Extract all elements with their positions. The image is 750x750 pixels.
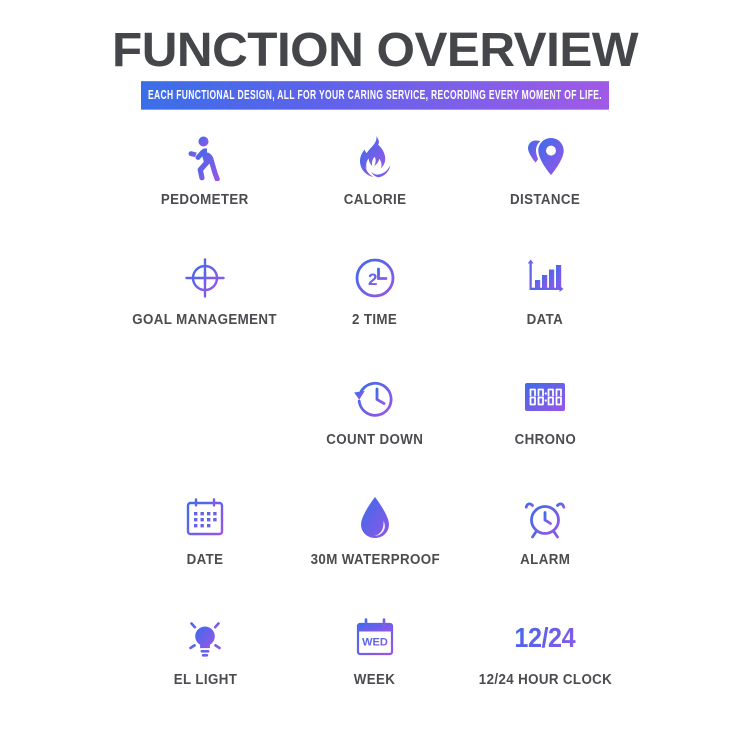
feature-label: GOAL MANAGEMENT (133, 312, 278, 328)
feature-label: 2 TIME (352, 312, 397, 328)
feature-item-goal-management[interactable]: GOAL MANAGEMENT (120, 250, 290, 370)
feature-label: DATE (187, 552, 224, 568)
running-person-icon (183, 130, 227, 186)
dual-time-clock-icon: 2 (352, 250, 398, 306)
feature-item-chrono[interactable]: CHRONO (460, 370, 630, 490)
digital-display-icon (523, 370, 567, 426)
function-overview-page: FUNCTION OVERVIEW EACH FUNCTIONAL DESIGN… (0, 0, 750, 750)
target-crosshair-icon (182, 250, 228, 306)
feature-label: 12/24 HOUR CLOCK (478, 672, 611, 688)
subtitle-wrapper: EACH FUNCTIONAL DESIGN, ALL FOR YOUR CAR… (0, 86, 750, 105)
flame-icon (355, 130, 395, 186)
feature-grid: PEDOMETER CALORIE (120, 130, 630, 730)
countdown-clock-icon (352, 370, 398, 426)
feature-item-hour-clock[interactable]: 12/24 12/24 HOUR CLOCK (460, 610, 630, 730)
week-day-text: WED (362, 637, 388, 649)
feature-item-waterproof[interactable]: 30M WATERPROOF (290, 490, 460, 610)
calendar-icon (184, 490, 226, 546)
feature-label: 30M WATERPROOF (310, 552, 439, 568)
feature-item-week[interactable]: WED WEEK (290, 610, 460, 730)
hour-clock-text: 12/24 (515, 622, 576, 654)
feature-label: DISTANCE (510, 192, 580, 208)
feature-item-calorie[interactable]: CALORIE (290, 130, 460, 250)
feature-label: CALORIE (344, 192, 407, 208)
feature-label: DATA (527, 312, 564, 328)
feature-label: COUNT DOWN (326, 432, 423, 448)
feature-item-count-down[interactable]: COUNT DOWN (290, 370, 460, 490)
water-drop-icon (357, 490, 393, 546)
feature-item-2-time[interactable]: 2 2 TIME (290, 250, 460, 370)
bar-chart-icon (522, 250, 568, 306)
twelve-twentyfour-text-icon: 12/24 (511, 610, 579, 666)
feature-item-pedometer[interactable]: PEDOMETER (120, 130, 290, 250)
feature-label: PEDOMETER (161, 192, 249, 208)
subtitle-banner: EACH FUNCTIONAL DESIGN, ALL FOR YOUR CAR… (141, 82, 609, 111)
feature-label: WEEK (354, 672, 396, 688)
feature-label: CHRONO (514, 432, 575, 448)
feature-label: ALARM (520, 552, 570, 568)
feature-item-date[interactable]: DATE (120, 490, 290, 610)
map-pin-icon (522, 130, 568, 186)
feature-item-alarm[interactable]: ALARM (460, 490, 630, 610)
alarm-clock-icon (522, 490, 568, 546)
calendar-week-icon: WED (353, 610, 397, 666)
feature-item-el-light[interactable]: EL LIGHT (120, 610, 290, 730)
feature-item-distance[interactable]: DISTANCE (460, 130, 630, 250)
page-title: FUNCTION OVERVIEW (0, 26, 750, 76)
feature-label: EL LIGHT (173, 672, 236, 688)
feature-item-data[interactable]: DATA (460, 250, 630, 370)
header: FUNCTION OVERVIEW EACH FUNCTIONAL DESIGN… (0, 0, 750, 106)
dual-time-number: 2 (368, 270, 377, 289)
light-bulb-icon (182, 610, 228, 666)
